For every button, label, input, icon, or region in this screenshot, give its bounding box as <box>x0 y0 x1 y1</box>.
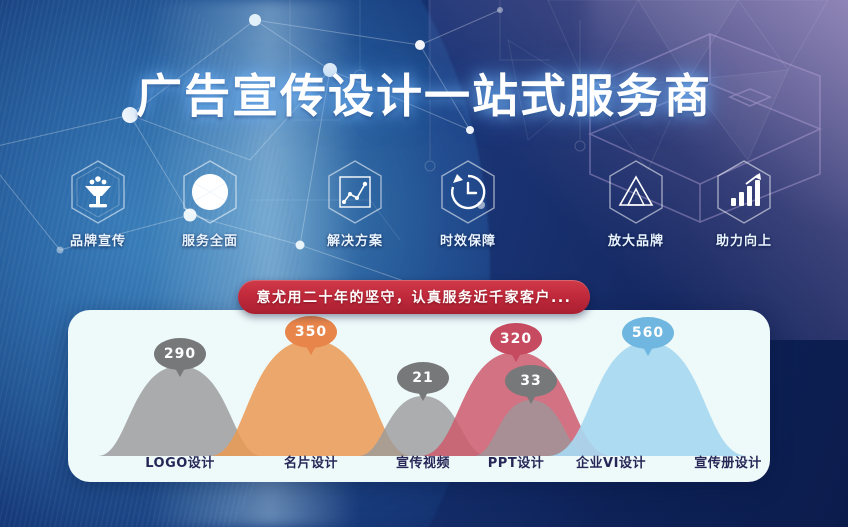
feature-label: 解决方案 <box>305 230 405 249</box>
line-chart-icon <box>324 158 386 226</box>
feature-item-growth[interactable]: 助力向上 <box>694 158 794 249</box>
triangle-icon <box>605 158 667 226</box>
megaphone-icon <box>67 158 129 226</box>
feature-item-timeliness[interactable]: 时效保障 <box>418 158 518 249</box>
feature-item-service[interactable]: 服务全面 <box>160 158 260 249</box>
value-bubble: 560 <box>622 317 674 349</box>
value-bubble: 290 <box>154 338 206 370</box>
feature-label: 品牌宣传 <box>48 230 148 249</box>
chart-card: 290 350 21 320 33 560 LOGO设计 名片设计 宣传视频 P… <box>68 310 770 482</box>
feature-icon-row: 品牌宣传 服务全面 <box>0 158 848 250</box>
promo-banner-text: 意尤用二十年的坚守，认真服务近千家客户... <box>257 287 572 307</box>
value-bubble-group: 290 350 21 320 33 560 <box>68 310 770 456</box>
axis-label: LOGO设计 <box>120 452 240 471</box>
axis-label: 名片设计 <box>251 452 371 471</box>
value-bubble: 320 <box>490 323 542 355</box>
feature-label: 助力向上 <box>694 230 794 249</box>
page-title: 广告宣传设计一站式服务商 <box>0 60 848 126</box>
feature-item-amplify[interactable]: 放大品牌 <box>586 158 686 249</box>
feature-label: 放大品牌 <box>586 230 686 249</box>
promo-banner[interactable]: 意尤用二十年的坚守，认真服务近千家客户... <box>238 280 590 314</box>
bar-chart-arrow-icon <box>713 158 775 226</box>
value-bubble: 21 <box>397 362 449 394</box>
value-bubble: 33 <box>505 365 557 397</box>
feature-item-solution[interactable]: 解决方案 <box>305 158 405 249</box>
feature-item-brand[interactable]: 品牌宣传 <box>48 158 148 249</box>
axis-label: 宣传册设计 <box>658 452 770 471</box>
value-bubble: 350 <box>285 316 337 348</box>
category-label-row: LOGO设计 名片设计 宣传视频 PPT设计 企业VI设计 宣传册设计 <box>68 452 770 474</box>
feature-label: 时效保障 <box>418 230 518 249</box>
aperture-icon <box>179 158 241 226</box>
clock-rewind-icon <box>437 158 499 226</box>
poster-canvas: 广告宣传设计一站式服务商 品牌宣传 <box>0 0 848 527</box>
feature-label: 服务全面 <box>160 230 260 249</box>
